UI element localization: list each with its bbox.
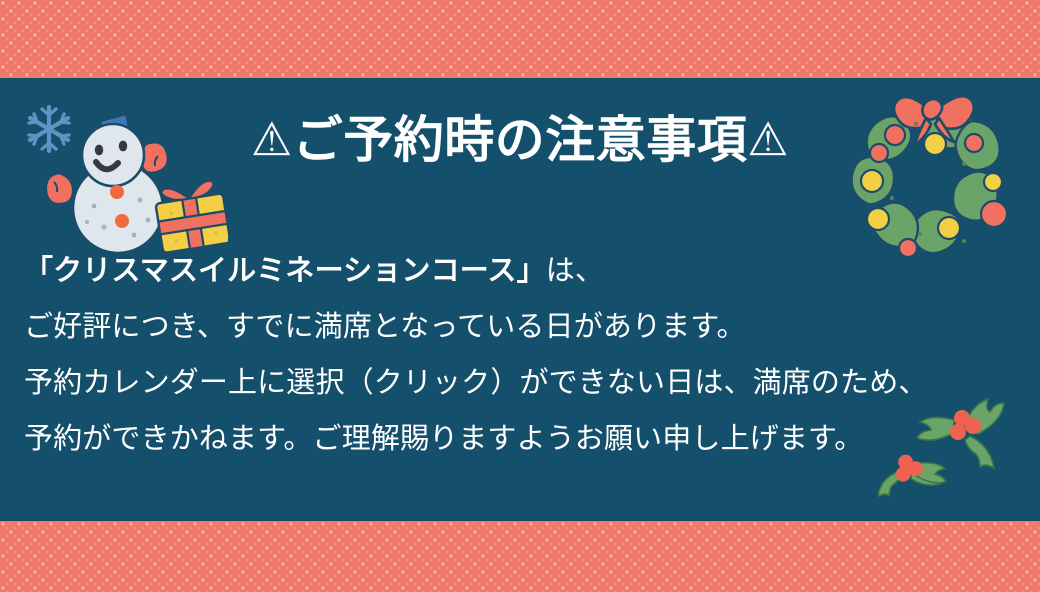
warning-triangle-icon-left: ⚠ [251, 113, 293, 165]
bottom-pattern-band [0, 521, 1040, 592]
course-name: 「クリスマスイルミネーションコース」 [24, 255, 546, 287]
notice-line-1-rest: は、 [546, 255, 604, 287]
notice-line-2: ご好評につき、すでに満席となっている日があります。 [24, 299, 1014, 355]
top-pattern-band [0, 0, 1040, 78]
notice-line-4: 予約ができかねます。ご理解賜りますようお願い申し上げます。 [24, 411, 1014, 467]
notice-line-2-rest: ご好評につき、すでに満席となっている日があります。 [24, 311, 746, 343]
notice-line-1: 「クリスマスイルミネーションコース」は、 [24, 243, 1014, 299]
notice-line-4-rest: 予約ができかねます。ご理解賜りますようお願い申し上げます。 [24, 423, 863, 455]
warning-triangle-icon-right: ⚠ [747, 113, 789, 165]
notice-banner: ⚠ご予約時の注意事項⚠ 「クリスマスイルミネーションコース」は、 ご好評につき、… [0, 0, 1040, 592]
notice-line-3-rest: 予約カレンダー上に選択（クリック）ができない日は、満席のため、 [24, 367, 928, 399]
notice-line-3: 予約カレンダー上に選択（クリック）ができない日は、満席のため、 [24, 355, 1014, 411]
notice-body: 「クリスマスイルミネーションコース」は、 ご好評につき、すでに満席となっている日… [24, 243, 1014, 467]
page-title: ⚠ご予約時の注意事項⚠ [0, 112, 1040, 168]
snowman-mitten-left [46, 173, 73, 204]
page-title-text: ご予約時の注意事項 [293, 112, 748, 168]
